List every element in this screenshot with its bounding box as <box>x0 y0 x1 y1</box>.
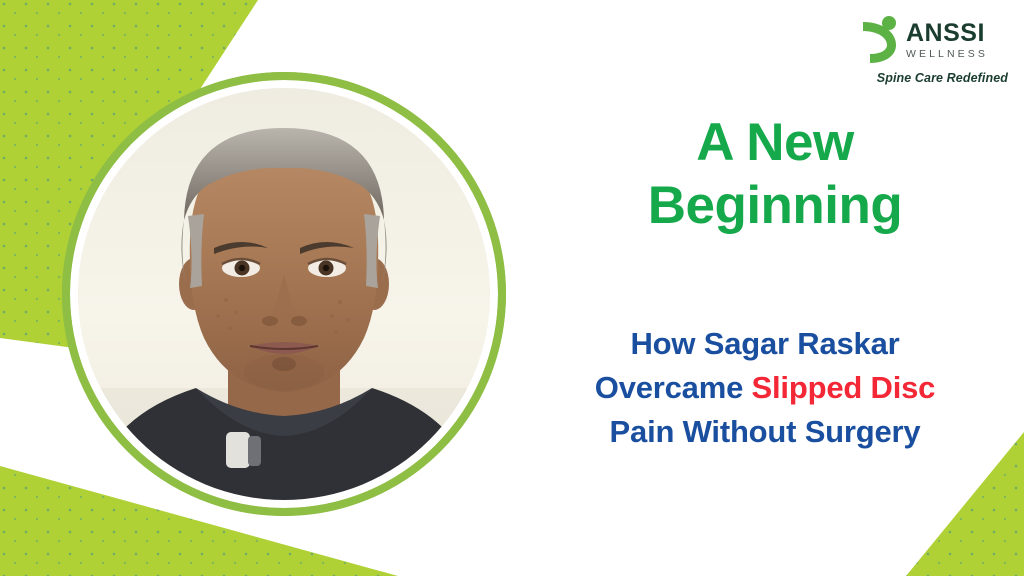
brand-logo: ANSSI WELLNESS Spine Care Redefined <box>856 14 1008 96</box>
logo-brand-text: ANSSI <box>906 21 988 46</box>
subtitle-line-3: Pain Without Surgery <box>528 410 1002 454</box>
logo-subbrand-text: WELLNESS <box>906 49 988 60</box>
subtitle-highlight: Slipped Disc <box>752 370 936 405</box>
anssi-crescent-figure-icon <box>856 16 900 64</box>
page-subtitle: How Sagar Raskar Overcame Slipped Disc P… <box>528 322 1002 454</box>
page-title: A New Beginning <box>560 112 990 237</box>
logo-lockup: ANSSI WELLNESS <box>856 14 1008 66</box>
portrait-avatar <box>62 72 506 516</box>
subtitle-line-2: Overcame Slipped Disc <box>528 366 1002 410</box>
logo-tagline: Spine Care Redefined <box>856 71 1008 85</box>
subtitle-line-2-prefix: Overcame <box>595 370 752 405</box>
banner-canvas: ANSSI WELLNESS Spine Care Redefined A Ne… <box>0 0 1024 576</box>
portrait-photo <box>78 88 490 500</box>
headline-line-1: A New <box>560 112 990 175</box>
logo-wordmark: ANSSI WELLNESS <box>906 21 988 60</box>
headline-line-2: Beginning <box>560 175 990 238</box>
subtitle-line-1: How Sagar Raskar <box>528 322 1002 366</box>
